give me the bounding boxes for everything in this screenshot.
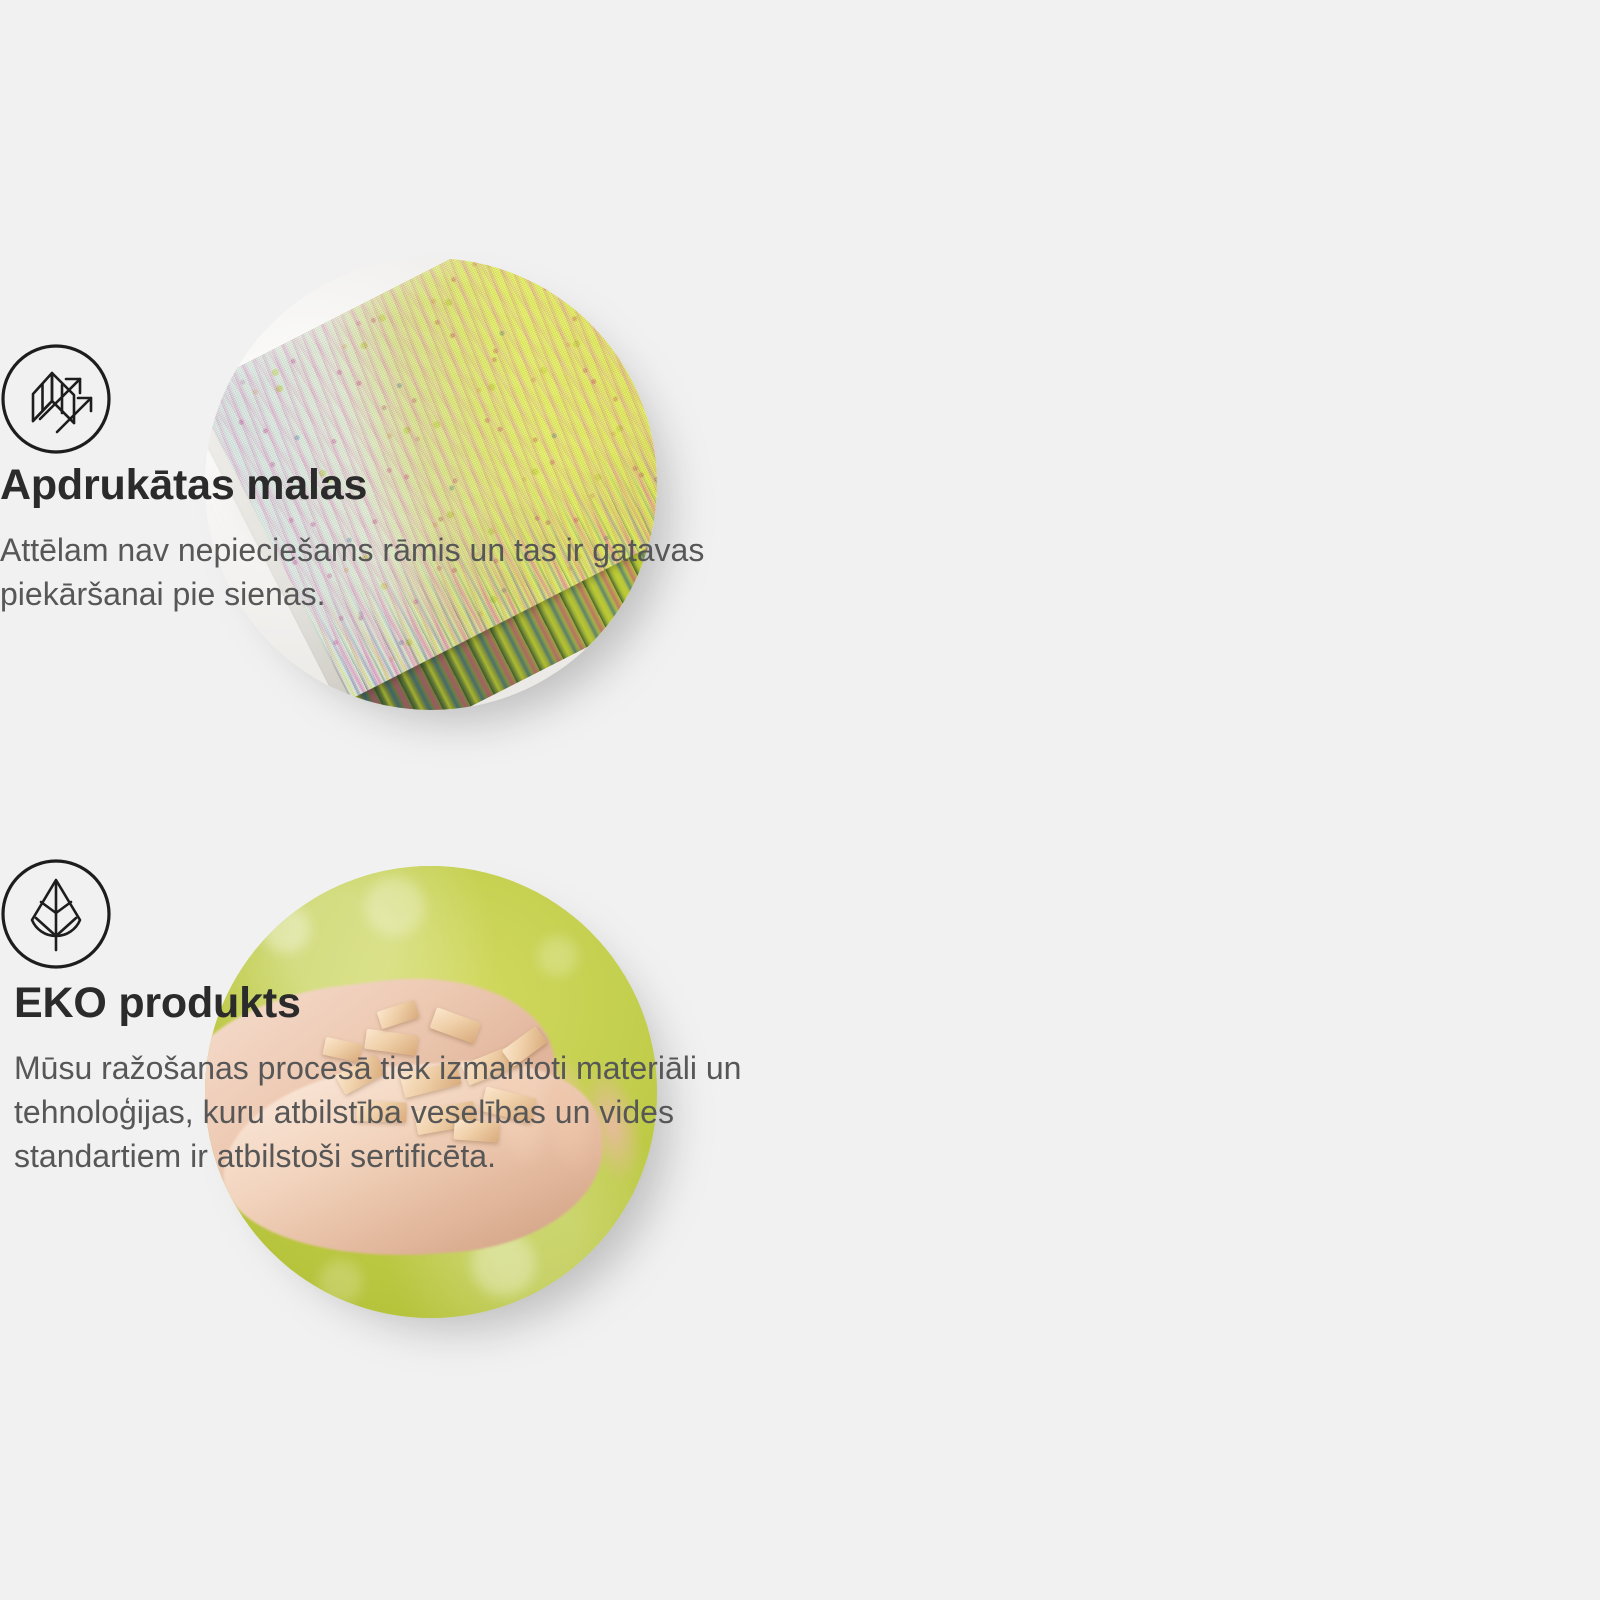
leaf-icon — [0, 858, 760, 970]
feature-1-title: Apdrukātas malas — [0, 462, 760, 509]
feature-1-body: Attēlam nav nepieciešams rāmis un tas ir… — [0, 528, 740, 616]
product-features-page: Apdrukātas malas Attēlam nav nepieciešam… — [0, 0, 1600, 1600]
feature-2-title: EKO produkts — [14, 980, 774, 1027]
canvas-wrap-arrows-icon — [0, 343, 760, 455]
feature-2-body: Mūsu ražošanas procesā tiek izmantoti ma… — [14, 1046, 754, 1178]
